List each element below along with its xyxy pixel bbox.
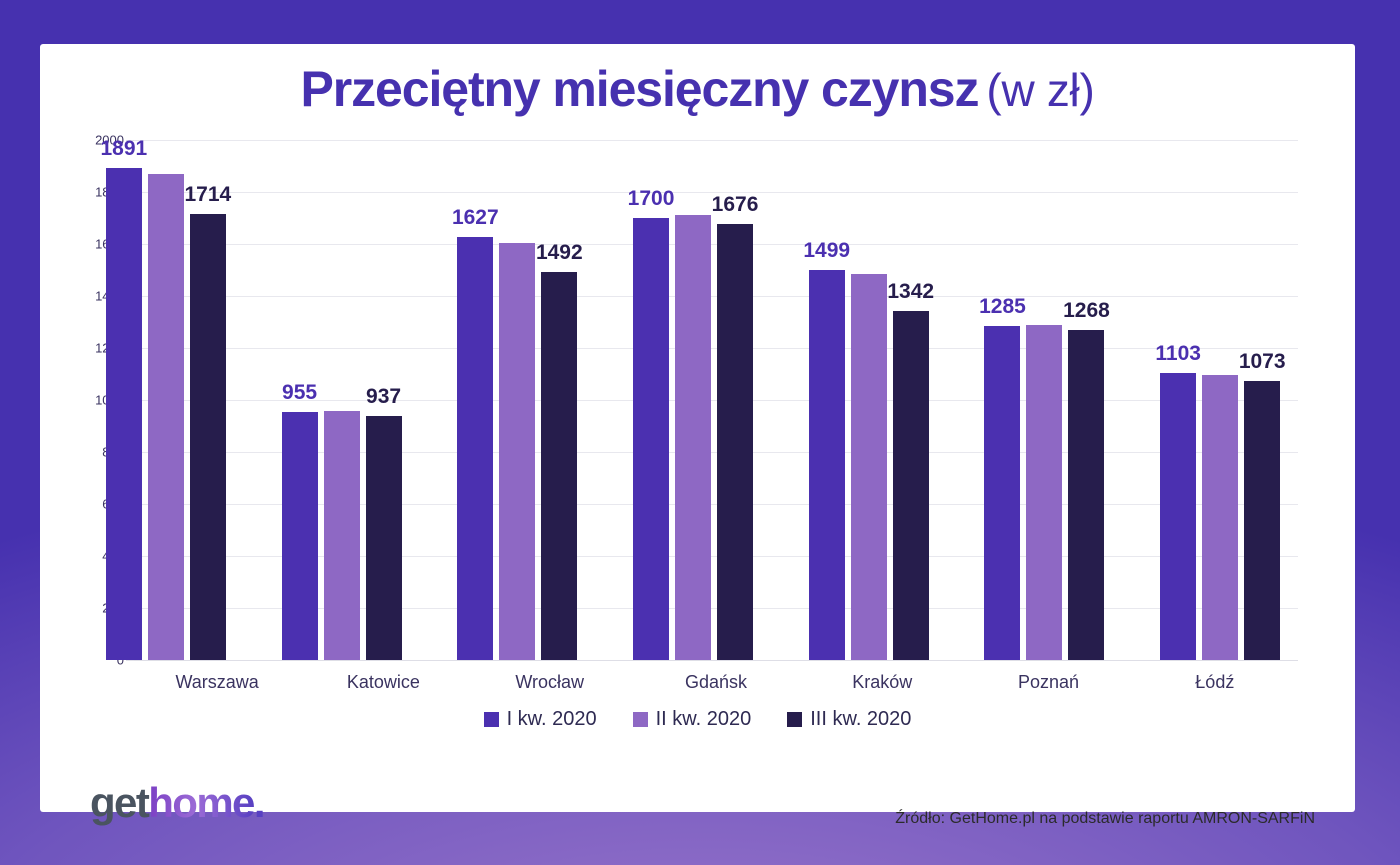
chart-legend: I kw. 2020II kw. 2020III kw. 2020: [40, 708, 1355, 731]
bar[interactable]: 1499: [809, 270, 845, 660]
bar-value-label: 1103: [1155, 342, 1201, 366]
bar[interactable]: 1676: [717, 224, 753, 660]
bar[interactable]: 1492: [541, 272, 577, 660]
source-note: Źródło: GetHome.pl na podstawie raportu …: [895, 810, 1315, 828]
bar[interactable]: 1285: [984, 326, 1020, 660]
bar-group-bars: 17001676: [605, 140, 781, 660]
legend-item[interactable]: III kw. 2020: [787, 708, 911, 731]
legend-label: III kw. 2020: [810, 708, 911, 731]
bar[interactable]: 955: [282, 412, 318, 660]
x-axis-category-label: Poznań: [965, 672, 1131, 693]
bar[interactable]: 1627: [457, 237, 493, 660]
chart-plot-area: 2000180016001400120010008006004002000 18…: [78, 140, 1308, 706]
bar[interactable]: [324, 411, 360, 660]
bar-value-label: 1285: [979, 295, 1026, 319]
bar[interactable]: 1073: [1244, 381, 1280, 660]
legend-color-swatch: [484, 712, 499, 727]
bar-value-label: 1627: [452, 206, 499, 230]
bar[interactable]: 1342: [893, 311, 929, 660]
bar-value-label: 1499: [803, 239, 850, 263]
title-unit: (w zł): [986, 64, 1094, 116]
bar-value-label: 955: [282, 381, 317, 405]
x-axis-category-label: Kraków: [799, 672, 965, 693]
bar[interactable]: 937: [366, 416, 402, 660]
logo-dot: .: [254, 779, 264, 826]
bar-value-label: 1073: [1239, 350, 1286, 374]
legend-label: I kw. 2020: [507, 708, 597, 731]
bar-group-bars: 955937: [254, 140, 430, 660]
bar-group: 16271492: [429, 140, 605, 660]
logo-text-get: get: [90, 779, 148, 826]
x-axis-category-label: Wrocław: [467, 672, 633, 693]
chart-card: Przeciętny miesięczny czynsz(w zł) 20001…: [40, 44, 1355, 812]
bar[interactable]: 1268: [1068, 330, 1104, 660]
bar-value-label: 1891: [101, 137, 148, 161]
logo-text-home: home: [148, 779, 254, 826]
bar-value-label: 1714: [185, 183, 232, 207]
legend-item[interactable]: II kw. 2020: [633, 708, 752, 731]
bar-value-label: 1342: [887, 280, 934, 304]
bar-value-label: 937: [366, 385, 401, 409]
legend-item[interactable]: I kw. 2020: [484, 708, 597, 731]
legend-label: II kw. 2020: [656, 708, 752, 731]
bar-group: 17001676: [605, 140, 781, 660]
bar[interactable]: 1714: [190, 214, 226, 660]
bar-group: 14991342: [781, 140, 957, 660]
bar[interactable]: [675, 215, 711, 660]
bar-value-label: 1676: [712, 193, 759, 217]
bar-group-bars: 14991342: [781, 140, 957, 660]
bar-group-bars: 18911714: [78, 140, 254, 660]
bar[interactable]: [1202, 375, 1238, 660]
bar-group: 12851268: [957, 140, 1133, 660]
x-axis-category-label: Gdańsk: [633, 672, 799, 693]
bar-value-label: 1268: [1063, 299, 1110, 323]
gethome-logo: gethome.: [90, 782, 264, 824]
bar-group: 11031073: [1132, 140, 1308, 660]
bar[interactable]: 1700: [633, 218, 669, 660]
legend-color-swatch: [633, 712, 648, 727]
bar[interactable]: [148, 174, 184, 660]
bar-group-bars: 11031073: [1132, 140, 1308, 660]
bar-groups: 1891171495593716271492170016761499134212…: [78, 140, 1308, 660]
bar-group-bars: 12851268: [957, 140, 1133, 660]
title-main: Przeciętny miesięczny czynsz: [301, 61, 979, 117]
gridline: [134, 660, 1298, 661]
bar[interactable]: [1026, 325, 1062, 660]
bar[interactable]: [851, 274, 887, 660]
x-axis-category-label: Katowice: [300, 672, 466, 693]
bar-group: 955937: [254, 140, 430, 660]
bar-group-bars: 16271492: [429, 140, 605, 660]
x-axis-category-label: Warszawa: [134, 672, 300, 693]
x-axis: WarszawaKatowiceWrocławGdańskKrakówPozna…: [134, 672, 1298, 693]
bar[interactable]: [499, 243, 535, 660]
bar[interactable]: 1891: [106, 168, 142, 660]
page-title: Przeciętny miesięczny czynsz(w zł): [40, 64, 1355, 114]
legend-color-swatch: [787, 712, 802, 727]
x-axis-category-label: Łódź: [1132, 672, 1298, 693]
bar-value-label: 1700: [628, 187, 675, 211]
y-axis-tick-mark: [126, 660, 134, 661]
bar-value-label: 1492: [536, 241, 583, 265]
bar[interactable]: 1103: [1160, 373, 1196, 660]
bar-group: 18911714: [78, 140, 254, 660]
